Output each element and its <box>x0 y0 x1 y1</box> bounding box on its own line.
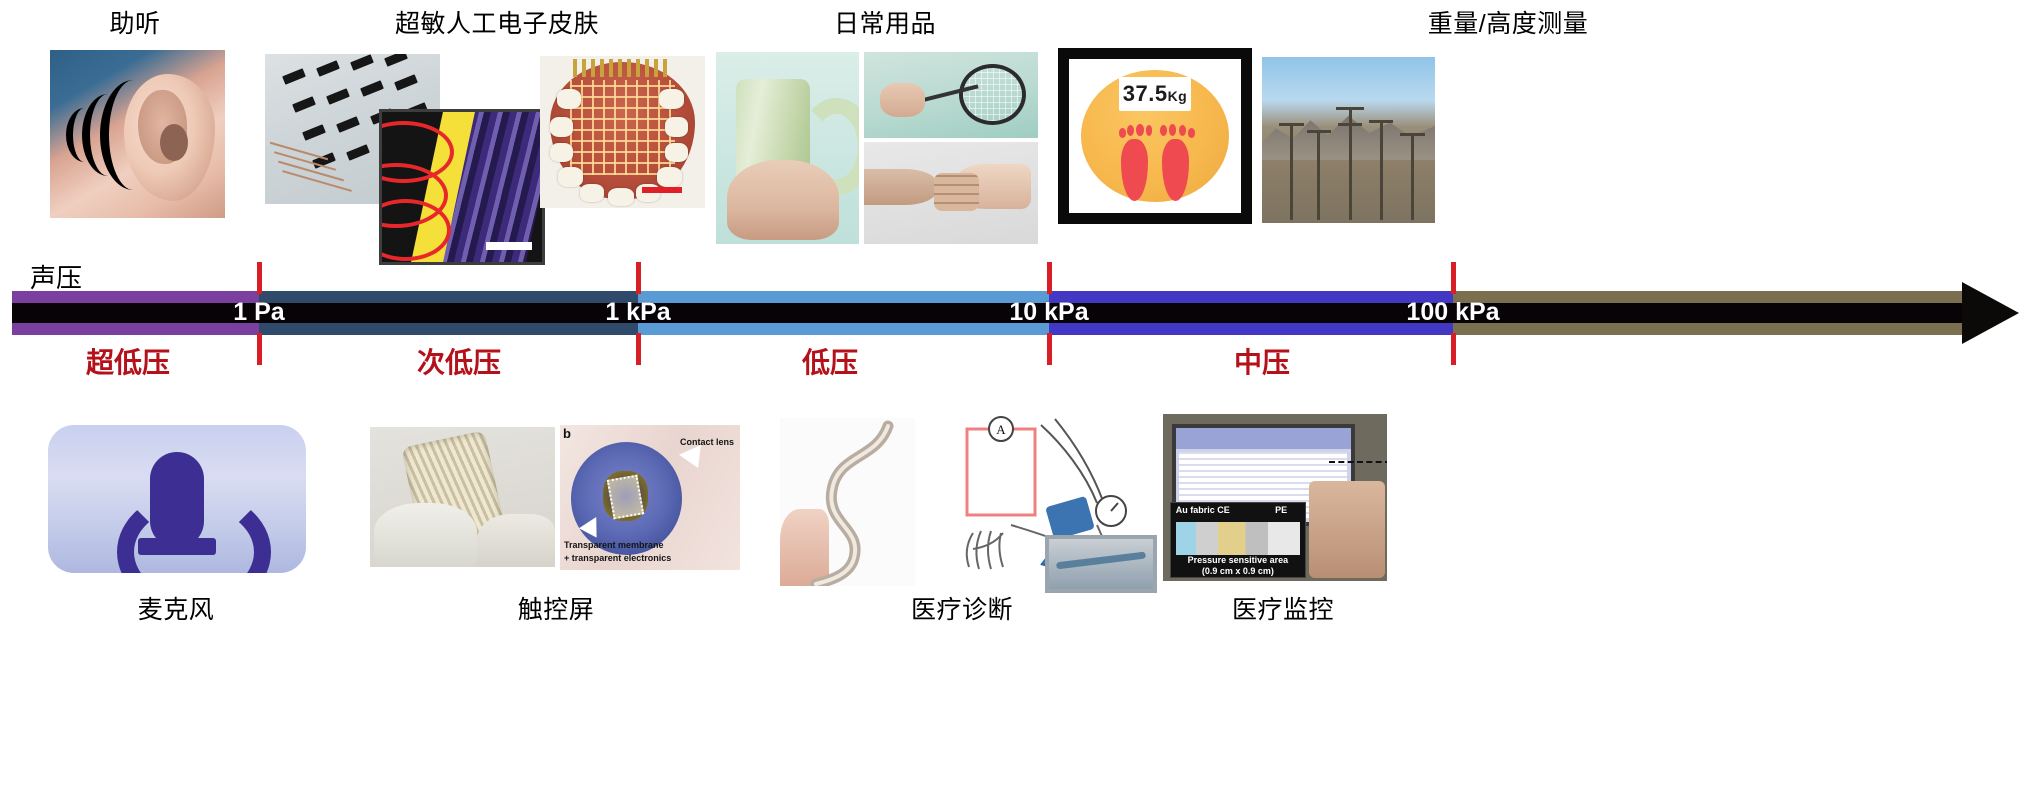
section-title-weight-height: 重量/高度测量 <box>1428 4 1588 40</box>
inset-label-area-dimensions: (0.9 cm x 0.9 cm) <box>1202 566 1274 576</box>
tick-mark-1kpa-bottom <box>636 333 641 365</box>
ear-hearing-photo <box>50 50 225 218</box>
tick-mark-1pa-bottom <box>257 333 262 365</box>
scale-arrow-head <box>1962 282 2019 344</box>
tick-label-1pa: 1 Pa <box>233 300 284 324</box>
eye-label-transparent-electronics: + transparent electronics <box>564 553 671 563</box>
eye-label-contact-lens: Contact lens <box>680 437 734 447</box>
range-label-ultra-low-pressure: 超低压 <box>86 341 170 381</box>
inset-label-pressure-sensitive-area: Pressure sensitive area <box>1188 555 1289 565</box>
section-title-medical-diagnosis: 医疗诊断 <box>911 590 1013 626</box>
handshake-photo <box>864 142 1038 244</box>
pressure-monitoring-screen-photo: Au fabric CE PE Pressure sensitive area … <box>1163 414 1387 581</box>
hand-holding-racket-photo <box>864 52 1038 138</box>
section-title-medical-monitoring: 医疗监控 <box>1232 590 1334 626</box>
sensor-array-closeup-photo <box>379 109 545 265</box>
segment-low-pressure <box>638 291 1049 335</box>
pressure-scale-bar <box>12 291 1978 335</box>
tick-label-1kpa: 1 kPa <box>605 300 670 324</box>
wrist-cuff-closeup-photo <box>1045 535 1157 593</box>
tick-mark-10kpa-bottom <box>1047 333 1052 365</box>
contact-lens-eye-photo: b Contact lens Transparent membrane + tr… <box>560 425 740 570</box>
segment-sub-low-pressure <box>259 291 638 335</box>
transmission-tower-mountain-photo <box>1262 57 1435 223</box>
wavy-sensor-path <box>780 418 915 586</box>
segment-medium-pressure <box>1049 291 1453 335</box>
tick-mark-10kpa-top <box>1047 262 1052 294</box>
flexible-film-in-hand-photo <box>370 427 555 567</box>
weight-readout: 37.5Kg <box>1119 77 1191 111</box>
axis-title-sound-pressure: 声压 <box>30 258 82 295</box>
flexible-wavy-sensor-photo <box>780 418 915 586</box>
hand-holding-mug-photo <box>716 52 859 244</box>
tick-mark-100kpa-bottom <box>1451 333 1456 365</box>
tick-mark-100kpa-top <box>1451 262 1456 294</box>
tick-mark-1pa-top <box>257 262 262 294</box>
weighing-scale-photo: 37.5Kg <box>1058 48 1252 224</box>
range-label-medium-pressure: 中压 <box>1234 341 1290 381</box>
dental-pressure-array-photo <box>540 56 705 208</box>
monitor-inset: Au fabric CE PE Pressure sensitive area … <box>1170 502 1306 577</box>
segment-high-pressure <box>1453 291 1978 335</box>
section-title-daily-goods: 日常用品 <box>834 4 936 40</box>
microphone-icon <box>48 425 306 573</box>
eye-label-transparent-membrane: Transparent membrane <box>564 540 664 550</box>
segment-ultra-low-pressure <box>12 291 259 335</box>
weight-unit: Kg <box>1168 88 1188 104</box>
panel-letter-b: b <box>563 426 571 441</box>
inset-label-au-fabric-ce: Au fabric CE <box>1176 505 1230 515</box>
inset-label-pe: PE <box>1275 505 1287 515</box>
svg-text:A: A <box>996 422 1006 437</box>
weight-value: 37.5 <box>1123 81 1168 106</box>
section-title-ultrasensitive-skin: 超敏人工电子皮肤 <box>395 4 599 40</box>
tick-mark-1kpa-top <box>636 262 641 294</box>
range-label-sub-low-pressure: 次低压 <box>417 341 501 381</box>
range-label-low-pressure: 低压 <box>802 341 858 381</box>
tick-label-10kpa: 10 kPa <box>1009 300 1088 324</box>
section-title-microphone: 麦克风 <box>138 590 215 626</box>
section-title-hearing-aid: 助听 <box>109 4 160 40</box>
section-title-touch-screen: 触控屏 <box>518 590 595 626</box>
tick-label-100kpa: 100 kPa <box>1406 300 1499 324</box>
